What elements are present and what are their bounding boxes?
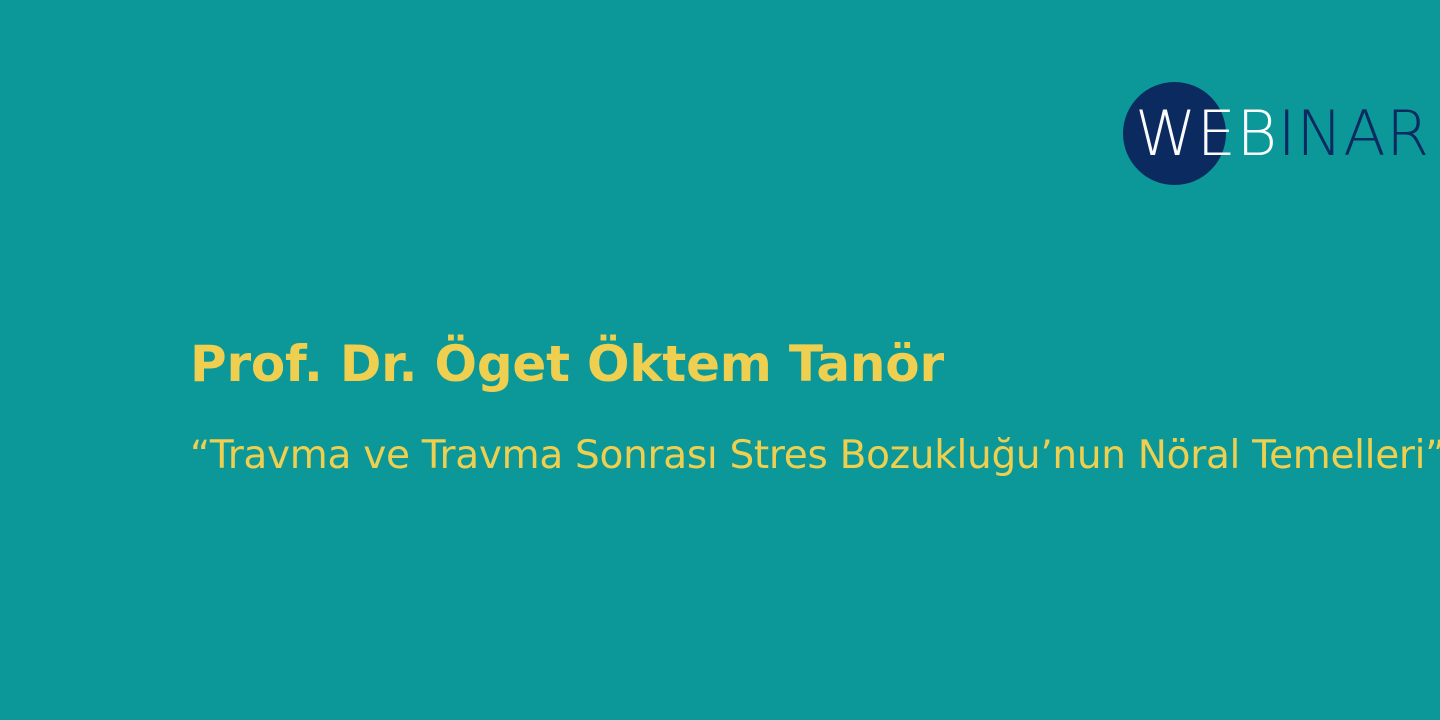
webinar-logo: WEBINAR — [1123, 82, 1353, 186]
logo-word-web: WEB — [1135, 97, 1278, 170]
logo-word-inar: INAR — [1278, 97, 1430, 170]
speaker-name: Prof. Dr. Öget Öktem Tanör — [190, 336, 1370, 392]
webinar-announcement-slide: WEBINAR Prof. Dr. Öget Öktem Tanör “Trav… — [0, 0, 1440, 720]
slide-text-block: Prof. Dr. Öget Öktem Tanör “Travma ve Tr… — [190, 336, 1370, 479]
talk-title: “Travma ve Travma Sonrası Stres Bozukluğ… — [190, 392, 1370, 479]
logo-wordmark: WEBINAR — [1135, 103, 1430, 165]
